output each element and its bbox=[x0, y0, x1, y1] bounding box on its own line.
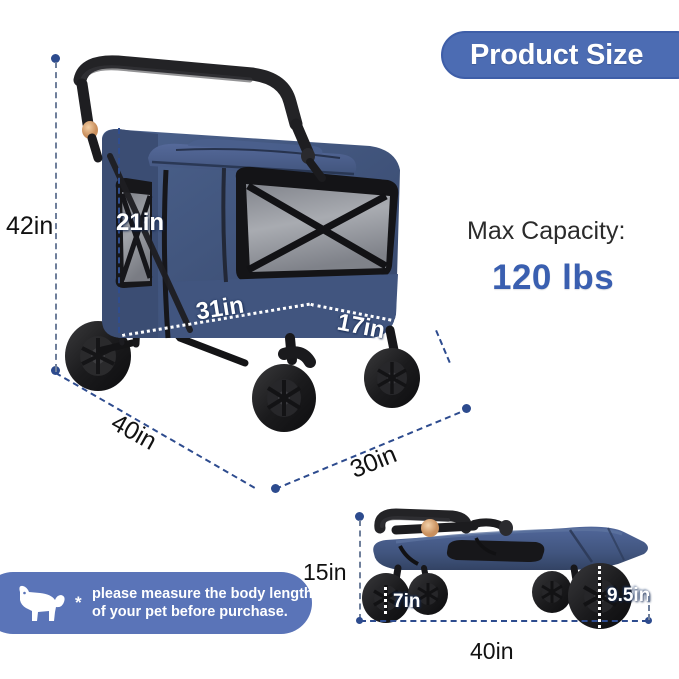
dim-label-rear-wheel: 9.5in bbox=[607, 585, 650, 607]
product-size-banner: Product Size bbox=[441, 31, 679, 79]
dim-line-rear-wheel bbox=[598, 566, 601, 628]
max-capacity-label: Max Capacity: bbox=[467, 217, 625, 246]
dim-label-height: 42in bbox=[6, 212, 53, 241]
dim-label-folded-length: 40in bbox=[470, 638, 513, 665]
dim-dot-base-vertex bbox=[271, 484, 280, 493]
pet-note-line-1: please measure the body length bbox=[92, 585, 313, 603]
max-capacity-value: 120 lbs bbox=[492, 258, 614, 298]
pet-measure-note: please measure the body length of your p… bbox=[0, 572, 312, 634]
dim-label-front-wheel: 7in bbox=[393, 591, 420, 613]
infographic-canvas: 42in 21in 31in 17in 40in 30in Product Si… bbox=[0, 0, 679, 679]
dim-line-folded-right-riser bbox=[648, 596, 650, 620]
dim-line-folded-length bbox=[360, 620, 648, 622]
pet-stroller-open-icon bbox=[40, 38, 460, 478]
dog-silhouette-icon bbox=[10, 582, 68, 624]
dim-label-inner-height: 21in bbox=[116, 209, 164, 237]
dim-line-front-wheel bbox=[384, 587, 387, 614]
pet-note-line-2: of your pet before purchase. bbox=[92, 603, 313, 621]
product-size-label: Product Size bbox=[470, 39, 643, 72]
dim-dot-base-right bbox=[462, 404, 471, 413]
pet-stroller-folded-icon bbox=[356, 498, 656, 638]
dim-line-height bbox=[55, 62, 57, 370]
dim-label-folded-height: 15in bbox=[303, 559, 346, 586]
dim-line-folded-height bbox=[359, 520, 361, 620]
pet-note-asterisk: * bbox=[75, 593, 82, 613]
